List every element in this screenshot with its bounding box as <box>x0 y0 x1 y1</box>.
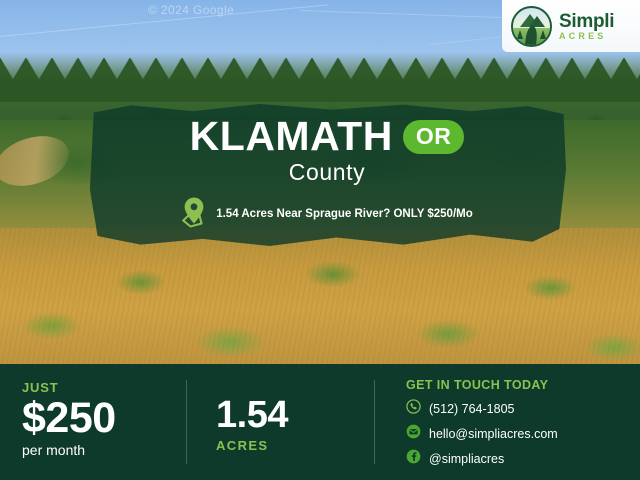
page-title: KLAMATH <box>190 116 393 157</box>
brand-name: Simpli <box>559 12 614 31</box>
price-amount: $250 <box>22 397 116 441</box>
contact-block: GET IN TOUCH TODAY (512) 764-1805 <box>406 378 558 474</box>
acreage-label: ACRES <box>216 438 288 453</box>
email-address: hello@simpliacres.com <box>429 427 558 441</box>
contact-facebook-row[interactable]: @simpliacres <box>406 449 558 469</box>
facebook-handle: @simpliacres <box>429 452 504 466</box>
footer-divider <box>374 380 375 464</box>
price-block: JUST $250 per month <box>22 380 116 458</box>
price-label: JUST <box>22 380 116 395</box>
hero-tagline-row: 1.54 Acres Near Sprague River? ONLY $250… <box>151 196 503 233</box>
acreage-block: 1.54 ACRES <box>216 396 288 453</box>
brand-logo[interactable]: Simpli ACRES <box>502 0 640 52</box>
state-badge: OR <box>403 120 465 154</box>
footer-divider <box>186 380 187 464</box>
hero-subtitle: County <box>289 161 365 184</box>
contact-heading: GET IN TOUCH TODAY <box>406 378 558 392</box>
price-period: per month <box>22 442 116 458</box>
hero-title-row: KLAMATH OR <box>190 116 465 157</box>
phone-number: (512) 764-1805 <box>429 402 514 416</box>
map-pin-icon <box>181 196 207 233</box>
contact-email-row[interactable]: hello@simpliacres.com <box>406 424 558 444</box>
phone-icon <box>406 399 421 419</box>
hero-tagline: 1.54 Acres Near Sprague River? ONLY $250… <box>216 207 473 221</box>
acreage-value: 1.54 <box>216 396 288 434</box>
mountain-road-badge-icon <box>511 6 552 47</box>
brand-wordmark: Simpli ACRES <box>559 12 614 41</box>
grass-texture <box>0 228 640 364</box>
envelope-icon <box>406 424 421 444</box>
land-listing-ad-card: © 2024 Google Simpli ACRES KLAMATH OR Co… <box>0 0 640 480</box>
photo-watermark: © 2024 Google <box>148 3 234 17</box>
footer-bar: JUST $250 per month 1.54 ACRES GET IN TO… <box>0 364 640 480</box>
hero-content: KLAMATH OR County 1.54 Acres Near Spragu… <box>88 104 566 246</box>
brand-tagline: ACRES <box>559 32 614 41</box>
tree-canopy-texture <box>0 58 640 102</box>
contact-phone-row[interactable]: (512) 764-1805 <box>406 399 558 419</box>
facebook-icon <box>406 449 421 469</box>
